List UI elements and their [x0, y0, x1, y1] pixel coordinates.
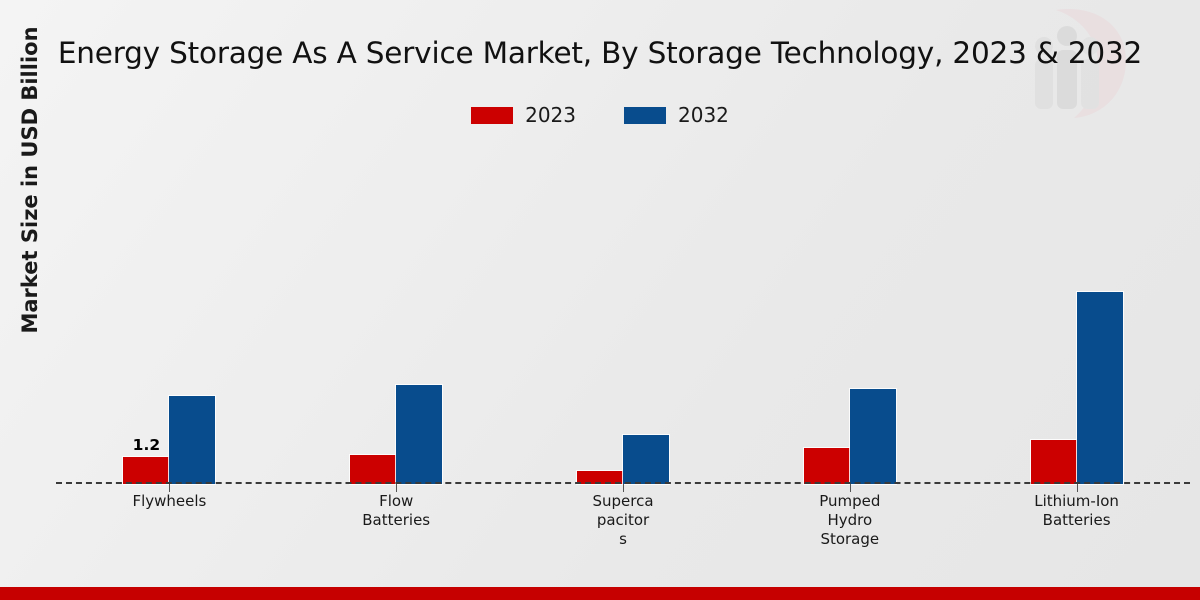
x-axis-labels: Flywheels Flow Batteries Superca pacitor…: [56, 492, 1190, 549]
axis-tick: [169, 484, 170, 492]
bar-group-lithium-ion-batteries: [963, 150, 1190, 484]
x-axis-label-lithium-ion-batteries: Lithium-Ion Batteries: [963, 492, 1190, 549]
legend-swatch-2032: [624, 107, 666, 124]
x-axis-label-supercapacitors: Superca pacitor s: [510, 492, 737, 549]
bar-2023-lithium-ion-batteries[interactable]: [1031, 440, 1077, 484]
bar-group-pumped-hydro-storage: [736, 150, 963, 484]
bar-group-flywheels: 1.2: [56, 150, 283, 484]
bottom-accent-bar: [0, 587, 1200, 600]
bar-group-supercapacitors: [510, 150, 737, 484]
chart-legend: 2023 2032: [0, 103, 1200, 127]
x-axis-baseline: [56, 482, 1190, 484]
bar-2032-supercapacitors[interactable]: [623, 435, 669, 484]
bar-2032-flywheels[interactable]: [169, 396, 215, 484]
axis-tick: [1077, 484, 1078, 492]
axis-tick: [850, 484, 851, 492]
page-title: Energy Storage As A Service Market, By S…: [0, 36, 1200, 70]
legend-label-2023: 2023: [525, 103, 576, 127]
legend-item-2032[interactable]: 2032: [624, 103, 729, 127]
bar-groups: 1.2: [56, 150, 1190, 484]
bar-2032-pumped-hydro-storage[interactable]: [850, 389, 896, 484]
plot-area: 1.2: [56, 150, 1190, 484]
bar-value-label: 1.2: [133, 436, 160, 454]
chart-page: Energy Storage As A Service Market, By S…: [0, 0, 1200, 600]
x-axis-label-flywheels: Flywheels: [56, 492, 283, 549]
legend-item-2023[interactable]: 2023: [471, 103, 576, 127]
y-axis-title: Market Size in USD Billion: [18, 10, 42, 350]
x-axis-label-flow-batteries: Flow Batteries: [283, 492, 510, 549]
bar-2023-flow-batteries[interactable]: [350, 455, 396, 484]
legend-swatch-2023: [471, 107, 513, 124]
axis-tick: [623, 484, 624, 492]
bar-2023-flywheels[interactable]: 1.2: [123, 457, 169, 484]
bar-2023-pumped-hydro-storage[interactable]: [804, 448, 850, 484]
bar-2032-flow-batteries[interactable]: [396, 385, 442, 484]
bar-2032-lithium-ion-batteries[interactable]: [1077, 292, 1123, 484]
axis-tick: [396, 484, 397, 492]
legend-label-2032: 2032: [678, 103, 729, 127]
bar-group-flow-batteries: [283, 150, 510, 484]
x-axis-label-pumped-hydro-storage: Pumped Hydro Storage: [736, 492, 963, 549]
